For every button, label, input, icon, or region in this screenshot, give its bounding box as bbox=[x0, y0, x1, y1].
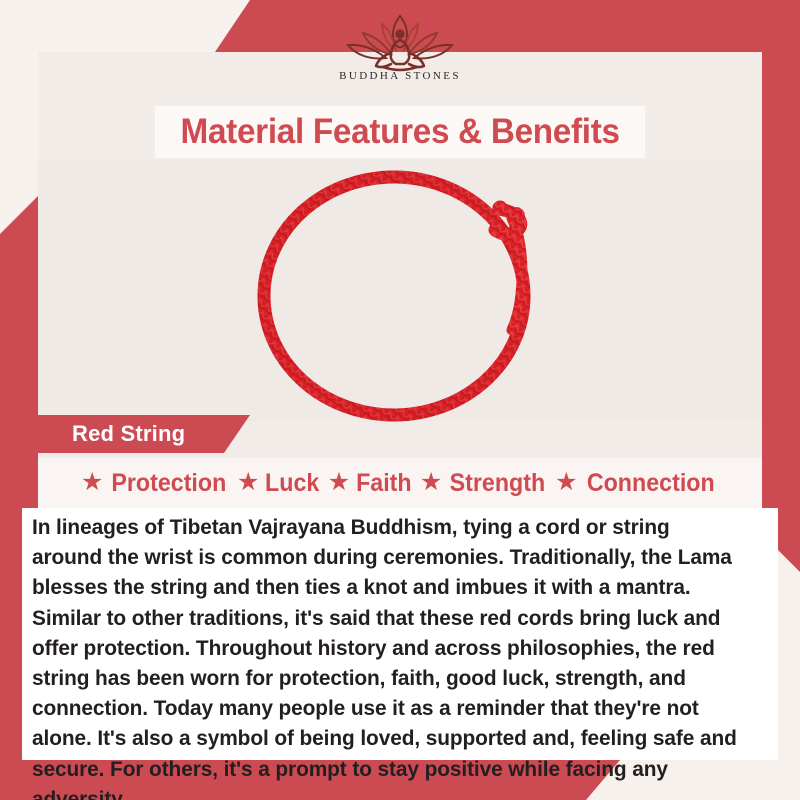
material-ribbon: Red String bbox=[20, 415, 250, 453]
benefit-item: ★ Protection bbox=[81, 469, 231, 498]
benefit-label: Strength bbox=[450, 469, 546, 498]
page-title: Material Features & Benefits bbox=[180, 112, 619, 152]
benefit-item: ★ Strength bbox=[420, 469, 549, 498]
description-text: In lineages of Tibetan Vajrayana Buddhis… bbox=[32, 512, 742, 800]
brand-name: BUDDHA STONES bbox=[339, 70, 461, 82]
title-banner: Material Features & Benefits bbox=[155, 106, 645, 158]
infographic-poster: BUDDHA STONES Material Features & Benefi… bbox=[0, 0, 800, 800]
benefit-label: Protection bbox=[112, 469, 227, 498]
benefit-label: Faith bbox=[356, 469, 412, 498]
description-panel: In lineages of Tibetan Vajrayana Buddhis… bbox=[22, 508, 778, 760]
star-icon: ★ bbox=[237, 470, 259, 495]
lotus-meditation-icon bbox=[336, 10, 464, 74]
right-accent-bar bbox=[762, 52, 800, 572]
benefit-label: Luck bbox=[265, 469, 319, 498]
benefit-item: ★ Faith bbox=[328, 469, 414, 498]
benefit-item: ★ Connection bbox=[555, 469, 719, 498]
red-string-bracelet-image bbox=[216, 160, 586, 422]
star-icon: ★ bbox=[328, 470, 350, 495]
benefits-row: ★ Protection ★ Luck ★ Faith ★ Strength ★… bbox=[38, 458, 762, 508]
benefit-item: ★ Luck bbox=[237, 469, 322, 498]
benefit-label: Connection bbox=[586, 469, 714, 498]
brand-logo: BUDDHA STONES bbox=[0, 10, 800, 98]
material-label: Red String bbox=[72, 421, 185, 447]
star-icon: ★ bbox=[555, 470, 577, 495]
star-icon: ★ bbox=[420, 470, 442, 495]
product-image-area bbox=[38, 160, 762, 422]
star-icon: ★ bbox=[81, 470, 103, 495]
